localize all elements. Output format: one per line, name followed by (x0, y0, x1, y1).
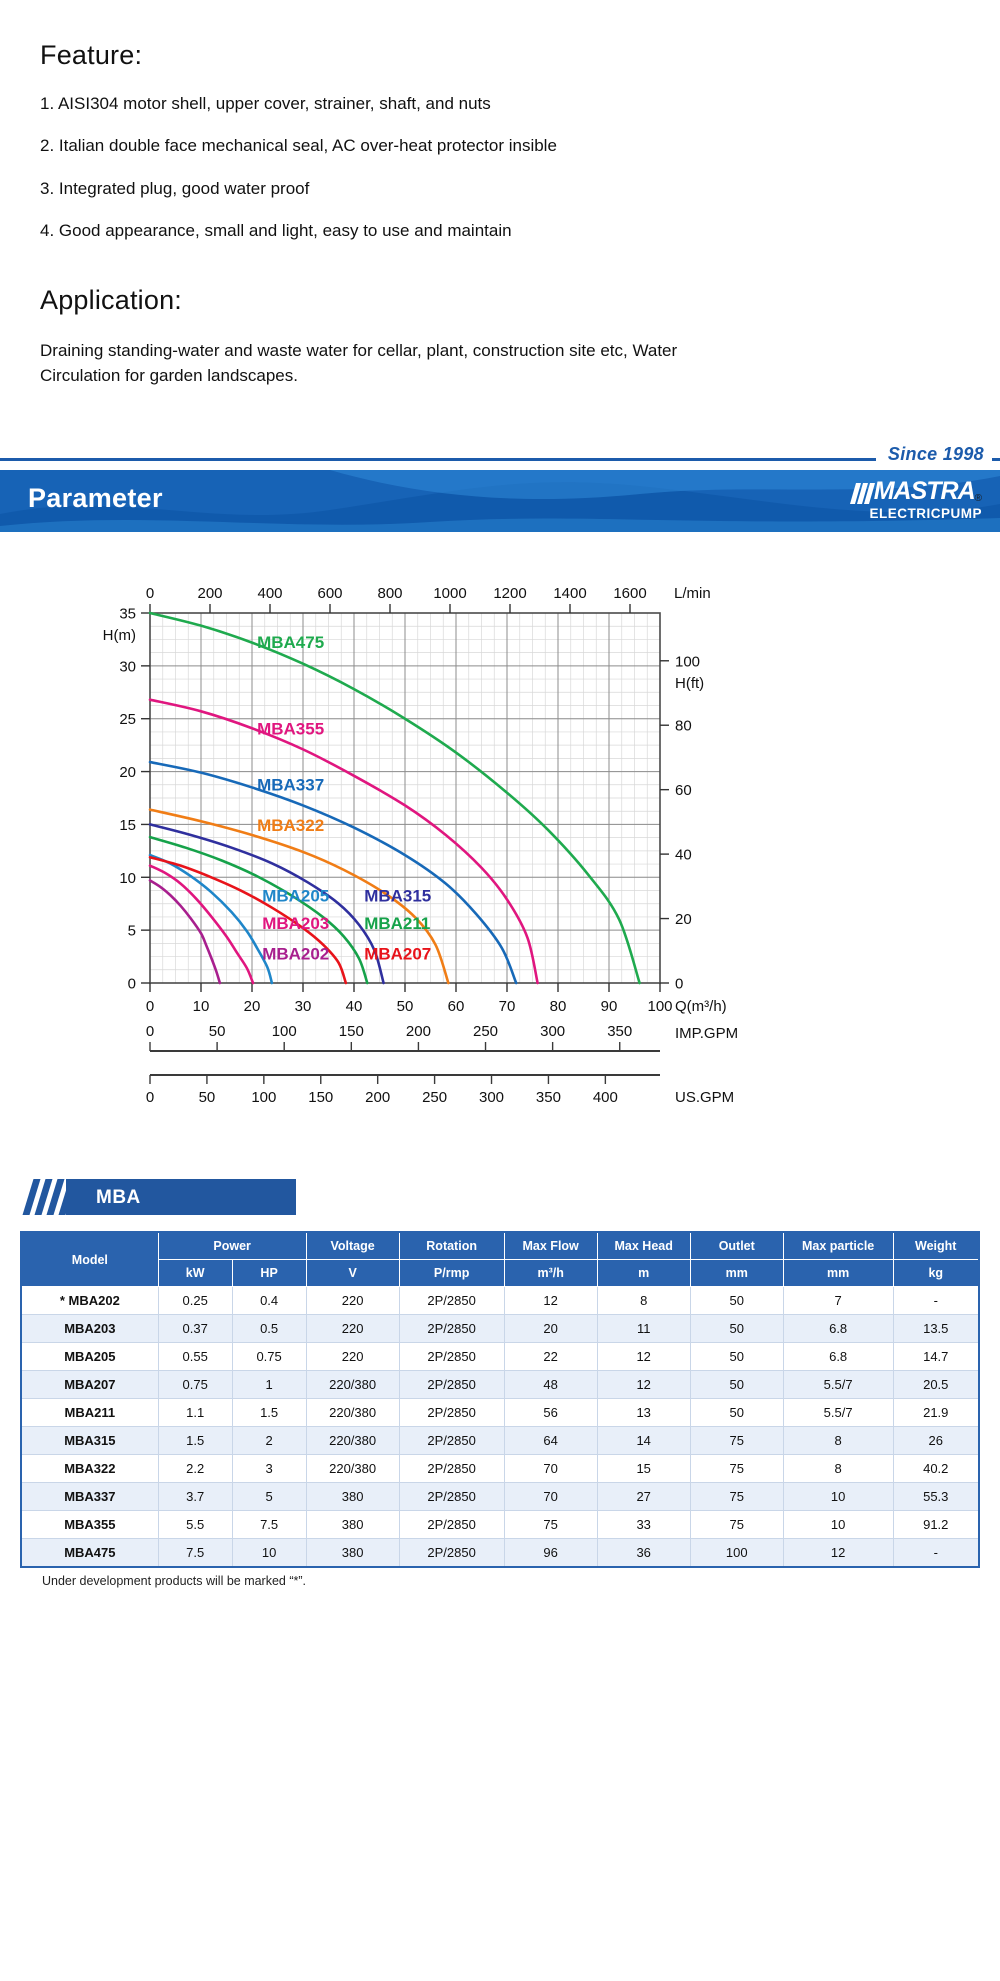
table-row: MBA3151.52220/3802P/2850641475826 (21, 1427, 979, 1455)
cell-flow: 20 (504, 1315, 597, 1343)
table-footnote: Under development products will be marke… (20, 1568, 980, 1588)
tick-label-us-gpm: 400 (593, 1089, 618, 1106)
tick-label-right: 40 (675, 847, 692, 864)
table-row: * MBA2020.250.42202P/2850128507- (21, 1287, 979, 1315)
cell-model: MBA315 (21, 1427, 158, 1455)
tick-label-us-gpm: 300 (479, 1089, 504, 1106)
cell-weight: 21.9 (893, 1399, 979, 1427)
th-unit-kw: kW (158, 1260, 232, 1287)
cell-particle: 5.5/7 (783, 1399, 893, 1427)
intro-text-block: Feature: 1. AISI304 motor shell, upper c… (0, 0, 1000, 388)
th-unit-rpm: P/rmp (399, 1260, 504, 1287)
cell-v: 380 (306, 1483, 399, 1511)
curve-label-mba337: MBA337 (257, 776, 324, 795)
cell-weight: 91.2 (893, 1511, 979, 1539)
th-unit-flow: m³/h (504, 1260, 597, 1287)
since-rule (0, 458, 1000, 461)
cell-flow: 56 (504, 1399, 597, 1427)
spec-table-body: * MBA2020.250.42202P/2850128507-MBA2030.… (21, 1287, 979, 1568)
logo-mark: MASTRA ® (853, 478, 982, 504)
cell-flow: 70 (504, 1483, 597, 1511)
slash-stripes-icon (28, 1179, 71, 1215)
cell-particle: 10 (783, 1511, 893, 1539)
cell-v: 380 (306, 1511, 399, 1539)
cell-v: 380 (306, 1539, 399, 1568)
th-max-flow: Max Flow (504, 1232, 597, 1260)
cell-weight: 20.5 (893, 1371, 979, 1399)
tick-label-imp-gpm: 150 (339, 1023, 364, 1040)
cell-weight: 26 (893, 1427, 979, 1455)
table-row: MBA2070.751220/3802P/28504812505.5/720.5 (21, 1371, 979, 1399)
cell-flow: 64 (504, 1427, 597, 1455)
tick-label-bottom: 20 (244, 998, 261, 1015)
tick-label-bottom: 100 (647, 998, 672, 1015)
tick-label-us-gpm: 0 (146, 1089, 154, 1106)
curve-label-mba205: MBA205 (262, 887, 329, 906)
cell-rpm: 2P/2850 (399, 1399, 504, 1427)
cell-head: 14 (597, 1427, 690, 1455)
tick-label-top: 1200 (493, 585, 526, 602)
table-row: MBA3222.23220/3802P/2850701575840.2 (21, 1455, 979, 1483)
tick-label-left: 5 (128, 923, 136, 940)
tick-label-bottom: 0 (146, 998, 154, 1015)
cell-hp: 0.5 (232, 1315, 306, 1343)
cell-rpm: 2P/2850 (399, 1539, 504, 1568)
curve-label-mba475: MBA475 (257, 633, 324, 652)
tick-label-bottom: 10 (193, 998, 210, 1015)
tick-label-bottom: 50 (397, 998, 414, 1015)
cell-weight: 14.7 (893, 1343, 979, 1371)
cell-head: 12 (597, 1343, 690, 1371)
cell-hp: 5 (232, 1483, 306, 1511)
cell-v: 220/380 (306, 1399, 399, 1427)
spec-table: Model Power Voltage Rotation Max Flow Ma… (20, 1231, 980, 1568)
tick-label-left: 15 (119, 817, 136, 834)
tick-label-left: 35 (119, 606, 136, 623)
curve-label-mba315: MBA315 (364, 887, 431, 906)
tick-label-us-gpm: 250 (422, 1089, 447, 1106)
th-weight: Weight (893, 1232, 979, 1260)
table-row: MBA3373.753802P/28507027751055.3 (21, 1483, 979, 1511)
cell-particle: 7 (783, 1287, 893, 1315)
th-rotation: Rotation (399, 1232, 504, 1260)
tick-label-right: 20 (675, 911, 692, 928)
tick-label-imp-gpm: 200 (406, 1023, 431, 1040)
th-voltage: Voltage (306, 1232, 399, 1260)
cell-flow: 12 (504, 1287, 597, 1315)
cell-model: MBA203 (21, 1315, 158, 1343)
cell-particle: 6.8 (783, 1343, 893, 1371)
th-unit-v: V (306, 1260, 399, 1287)
axis-unit-q: Q(m³/h) (675, 998, 727, 1015)
tick-label-bottom: 30 (295, 998, 312, 1015)
cell-outlet: 75 (690, 1427, 783, 1455)
cell-particle: 10 (783, 1483, 893, 1511)
cell-rpm: 2P/2850 (399, 1287, 504, 1315)
feature-item: 1. AISI304 motor shell, upper cover, str… (40, 93, 960, 114)
cell-hp: 10 (232, 1539, 306, 1568)
th-model: Model (21, 1232, 158, 1287)
tick-label-top: 0 (146, 585, 154, 602)
cell-v: 220/380 (306, 1371, 399, 1399)
cell-flow: 48 (504, 1371, 597, 1399)
cell-kw: 7.5 (158, 1539, 232, 1568)
curve-mba202 (150, 881, 220, 984)
cell-weight: - (893, 1287, 979, 1315)
feature-item: 4. Good appearance, small and light, eas… (40, 220, 960, 241)
cell-head: 33 (597, 1511, 690, 1539)
tick-label-right: 0 (675, 976, 683, 993)
cell-outlet: 75 (690, 1455, 783, 1483)
curve-label-mba202: MBA202 (262, 945, 329, 964)
cell-kw: 0.25 (158, 1287, 232, 1315)
curve-label-mba211: MBA211 (364, 914, 430, 933)
cell-head: 15 (597, 1455, 690, 1483)
cell-model: MBA322 (21, 1455, 158, 1483)
cell-outlet: 50 (690, 1371, 783, 1399)
cell-kw: 0.37 (158, 1315, 232, 1343)
performance-chart: 02004006008001000120014001600L/min051015… (0, 553, 1000, 1173)
cell-head: 12 (597, 1371, 690, 1399)
feature-heading: Feature: (40, 40, 960, 71)
axis-unit-hm: H(m) (103, 627, 136, 644)
cell-model: * MBA202 (21, 1287, 158, 1315)
cell-v: 220/380 (306, 1427, 399, 1455)
cell-flow: 96 (504, 1539, 597, 1568)
chart-canvas: 02004006008001000120014001600L/min051015… (0, 553, 1000, 1173)
cell-particle: 5.5/7 (783, 1371, 893, 1399)
feature-item: 3. Integrated plug, good water proof (40, 178, 960, 199)
tick-label-top: 400 (257, 585, 282, 602)
tick-label-right: 100 (675, 654, 700, 671)
cell-v: 220 (306, 1287, 399, 1315)
tick-label-imp-gpm: 250 (473, 1023, 498, 1040)
cell-particle: 6.8 (783, 1315, 893, 1343)
tick-label-us-gpm: 50 (199, 1089, 216, 1106)
th-power: Power (158, 1232, 306, 1260)
tick-label-left: 25 (119, 712, 136, 729)
th-unit-outlet: mm (690, 1260, 783, 1287)
cell-outlet: 50 (690, 1315, 783, 1343)
feature-list: 1. AISI304 motor shell, upper cover, str… (40, 93, 960, 241)
cell-kw: 0.75 (158, 1371, 232, 1399)
cell-rpm: 2P/2850 (399, 1511, 504, 1539)
banner-bar: Parameter MASTRA ® ELECTRICPUMP (0, 470, 1000, 532)
curve-mba337 (150, 762, 516, 983)
tick-label-imp-gpm: 50 (209, 1023, 226, 1040)
cell-outlet: 50 (690, 1343, 783, 1371)
tick-label-top: 1600 (613, 585, 646, 602)
mba-section-tag: MBA (28, 1179, 308, 1219)
tick-label-bottom: 90 (601, 998, 618, 1015)
mba-tag-box: MBA (66, 1179, 296, 1215)
cell-flow: 75 (504, 1511, 597, 1539)
axis-unit-imp-gpm: IMP.GPM (675, 1025, 738, 1042)
cell-hp: 1 (232, 1371, 306, 1399)
cell-head: 8 (597, 1287, 690, 1315)
logo-stripes-icon (853, 483, 872, 504)
cell-model: MBA207 (21, 1371, 158, 1399)
since-label: Since 1998 (876, 444, 992, 465)
cell-model: MBA211 (21, 1399, 158, 1427)
tick-label-right: 80 (675, 718, 692, 735)
curve-label-mba322: MBA322 (257, 816, 324, 835)
cell-v: 220 (306, 1343, 399, 1371)
cell-rpm: 2P/2850 (399, 1315, 504, 1343)
cell-hp: 7.5 (232, 1511, 306, 1539)
th-unit-head: m (597, 1260, 690, 1287)
brand-logo: MASTRA ® ELECTRICPUMP (853, 478, 982, 521)
table-row: MBA2111.11.5220/3802P/28505613505.5/721.… (21, 1399, 979, 1427)
cell-weight: 55.3 (893, 1483, 979, 1511)
tick-label-us-gpm: 200 (365, 1089, 390, 1106)
th-unit-weight: kg (893, 1260, 979, 1287)
cell-v: 220 (306, 1315, 399, 1343)
cell-hp: 0.4 (232, 1287, 306, 1315)
tick-label-bottom: 40 (346, 998, 363, 1015)
table-row: MBA4757.5103802P/2850963610012- (21, 1539, 979, 1568)
tick-label-left: 30 (119, 659, 136, 676)
cell-flow: 22 (504, 1343, 597, 1371)
cell-flow: 70 (504, 1455, 597, 1483)
table-row: MBA3555.57.53802P/28507533751091.2 (21, 1511, 979, 1539)
cell-particle: 12 (783, 1539, 893, 1568)
th-outlet: Outlet (690, 1232, 783, 1260)
tick-label-imp-gpm: 100 (272, 1023, 297, 1040)
unit-header-row: kW HP V P/rmp m³/h m mm mm kg (21, 1260, 979, 1287)
tick-label-left: 20 (119, 764, 136, 781)
table-row: MBA2050.550.752202P/28502212506.814.7 (21, 1343, 979, 1371)
tick-label-top: 800 (377, 585, 402, 602)
cell-kw: 1.5 (158, 1427, 232, 1455)
tick-label-bottom: 60 (448, 998, 465, 1015)
cell-rpm: 2P/2850 (399, 1455, 504, 1483)
cell-kw: 0.55 (158, 1343, 232, 1371)
axis-unit-us-gpm: US.GPM (675, 1089, 734, 1106)
group-header-row: Model Power Voltage Rotation Max Flow Ma… (21, 1232, 979, 1260)
tick-label-us-gpm: 350 (536, 1089, 561, 1106)
cell-model: MBA205 (21, 1343, 158, 1371)
cell-hp: 2 (232, 1427, 306, 1455)
cell-hp: 3 (232, 1455, 306, 1483)
cell-kw: 5.5 (158, 1511, 232, 1539)
tick-label-left: 10 (119, 870, 136, 887)
tick-label-imp-gpm: 300 (540, 1023, 565, 1040)
cell-outlet: 75 (690, 1511, 783, 1539)
cell-model: MBA475 (21, 1539, 158, 1568)
banner-title: Parameter (28, 483, 163, 514)
application-body: Draining standing-water and waste water … (40, 338, 760, 388)
tick-label-us-gpm: 100 (251, 1089, 276, 1106)
cell-head: 36 (597, 1539, 690, 1568)
tick-label-us-gpm: 150 (308, 1089, 333, 1106)
cell-weight: 40.2 (893, 1455, 979, 1483)
table-row: MBA2030.370.52202P/28502011506.813.5 (21, 1315, 979, 1343)
cell-weight: - (893, 1539, 979, 1568)
cell-head: 11 (597, 1315, 690, 1343)
tick-label-imp-gpm: 0 (146, 1023, 154, 1040)
logo-wordmark: MASTRA (874, 479, 975, 504)
cell-outlet: 50 (690, 1399, 783, 1427)
cell-weight: 13.5 (893, 1315, 979, 1343)
cell-head: 27 (597, 1483, 690, 1511)
cell-hp: 1.5 (232, 1399, 306, 1427)
th-max-head: Max Head (597, 1232, 690, 1260)
cell-model: MBA337 (21, 1483, 158, 1511)
mba-tag-label: MBA (96, 1187, 141, 1209)
cell-rpm: 2P/2850 (399, 1483, 504, 1511)
tick-label-bottom: 70 (499, 998, 516, 1015)
cell-particle: 8 (783, 1427, 893, 1455)
th-max-particle: Max particle (783, 1232, 893, 1260)
cell-rpm: 2P/2850 (399, 1427, 504, 1455)
cell-outlet: 50 (690, 1287, 783, 1315)
cell-v: 220/380 (306, 1455, 399, 1483)
cell-kw: 1.1 (158, 1399, 232, 1427)
cell-head: 13 (597, 1399, 690, 1427)
tick-label-left: 0 (128, 976, 136, 993)
curve-label-mba355: MBA355 (257, 720, 324, 739)
axis-unit-lmin: L/min (674, 585, 711, 602)
tick-label-top: 200 (197, 585, 222, 602)
cell-model: MBA355 (21, 1511, 158, 1539)
cell-kw: 3.7 (158, 1483, 232, 1511)
logo-tagline: ELECTRICPUMP (853, 507, 982, 521)
cell-rpm: 2P/2850 (399, 1371, 504, 1399)
th-unit-particle: mm (783, 1260, 893, 1287)
tick-label-top: 1000 (433, 585, 466, 602)
cell-kw: 2.2 (158, 1455, 232, 1483)
application-heading: Application: (40, 285, 960, 316)
th-unit-hp: HP (232, 1260, 306, 1287)
cell-particle: 8 (783, 1455, 893, 1483)
tick-label-top: 600 (317, 585, 342, 602)
cell-outlet: 100 (690, 1539, 783, 1568)
tick-label-right: 60 (675, 782, 692, 799)
curve-label-mba203: MBA203 (262, 914, 329, 933)
cell-hp: 0.75 (232, 1343, 306, 1371)
tick-label-bottom: 80 (550, 998, 567, 1015)
tick-label-imp-gpm: 350 (607, 1023, 632, 1040)
cell-outlet: 75 (690, 1483, 783, 1511)
registered-trademark-icon: ® (975, 494, 982, 504)
parameter-banner: Since 1998 Parameter MASTRA ® ELECTRICPU… (0, 448, 1000, 553)
curve-label-mba207: MBA207 (364, 945, 431, 964)
tick-label-top: 1400 (553, 585, 586, 602)
spec-table-head: Model Power Voltage Rotation Max Flow Ma… (21, 1232, 979, 1287)
cell-rpm: 2P/2850 (399, 1343, 504, 1371)
feature-item: 2. Italian double face mechanical seal, … (40, 135, 960, 156)
axis-unit-hft: H(ft) (675, 675, 704, 692)
spec-table-wrap: Model Power Voltage Rotation Max Flow Ma… (0, 1219, 1000, 1588)
